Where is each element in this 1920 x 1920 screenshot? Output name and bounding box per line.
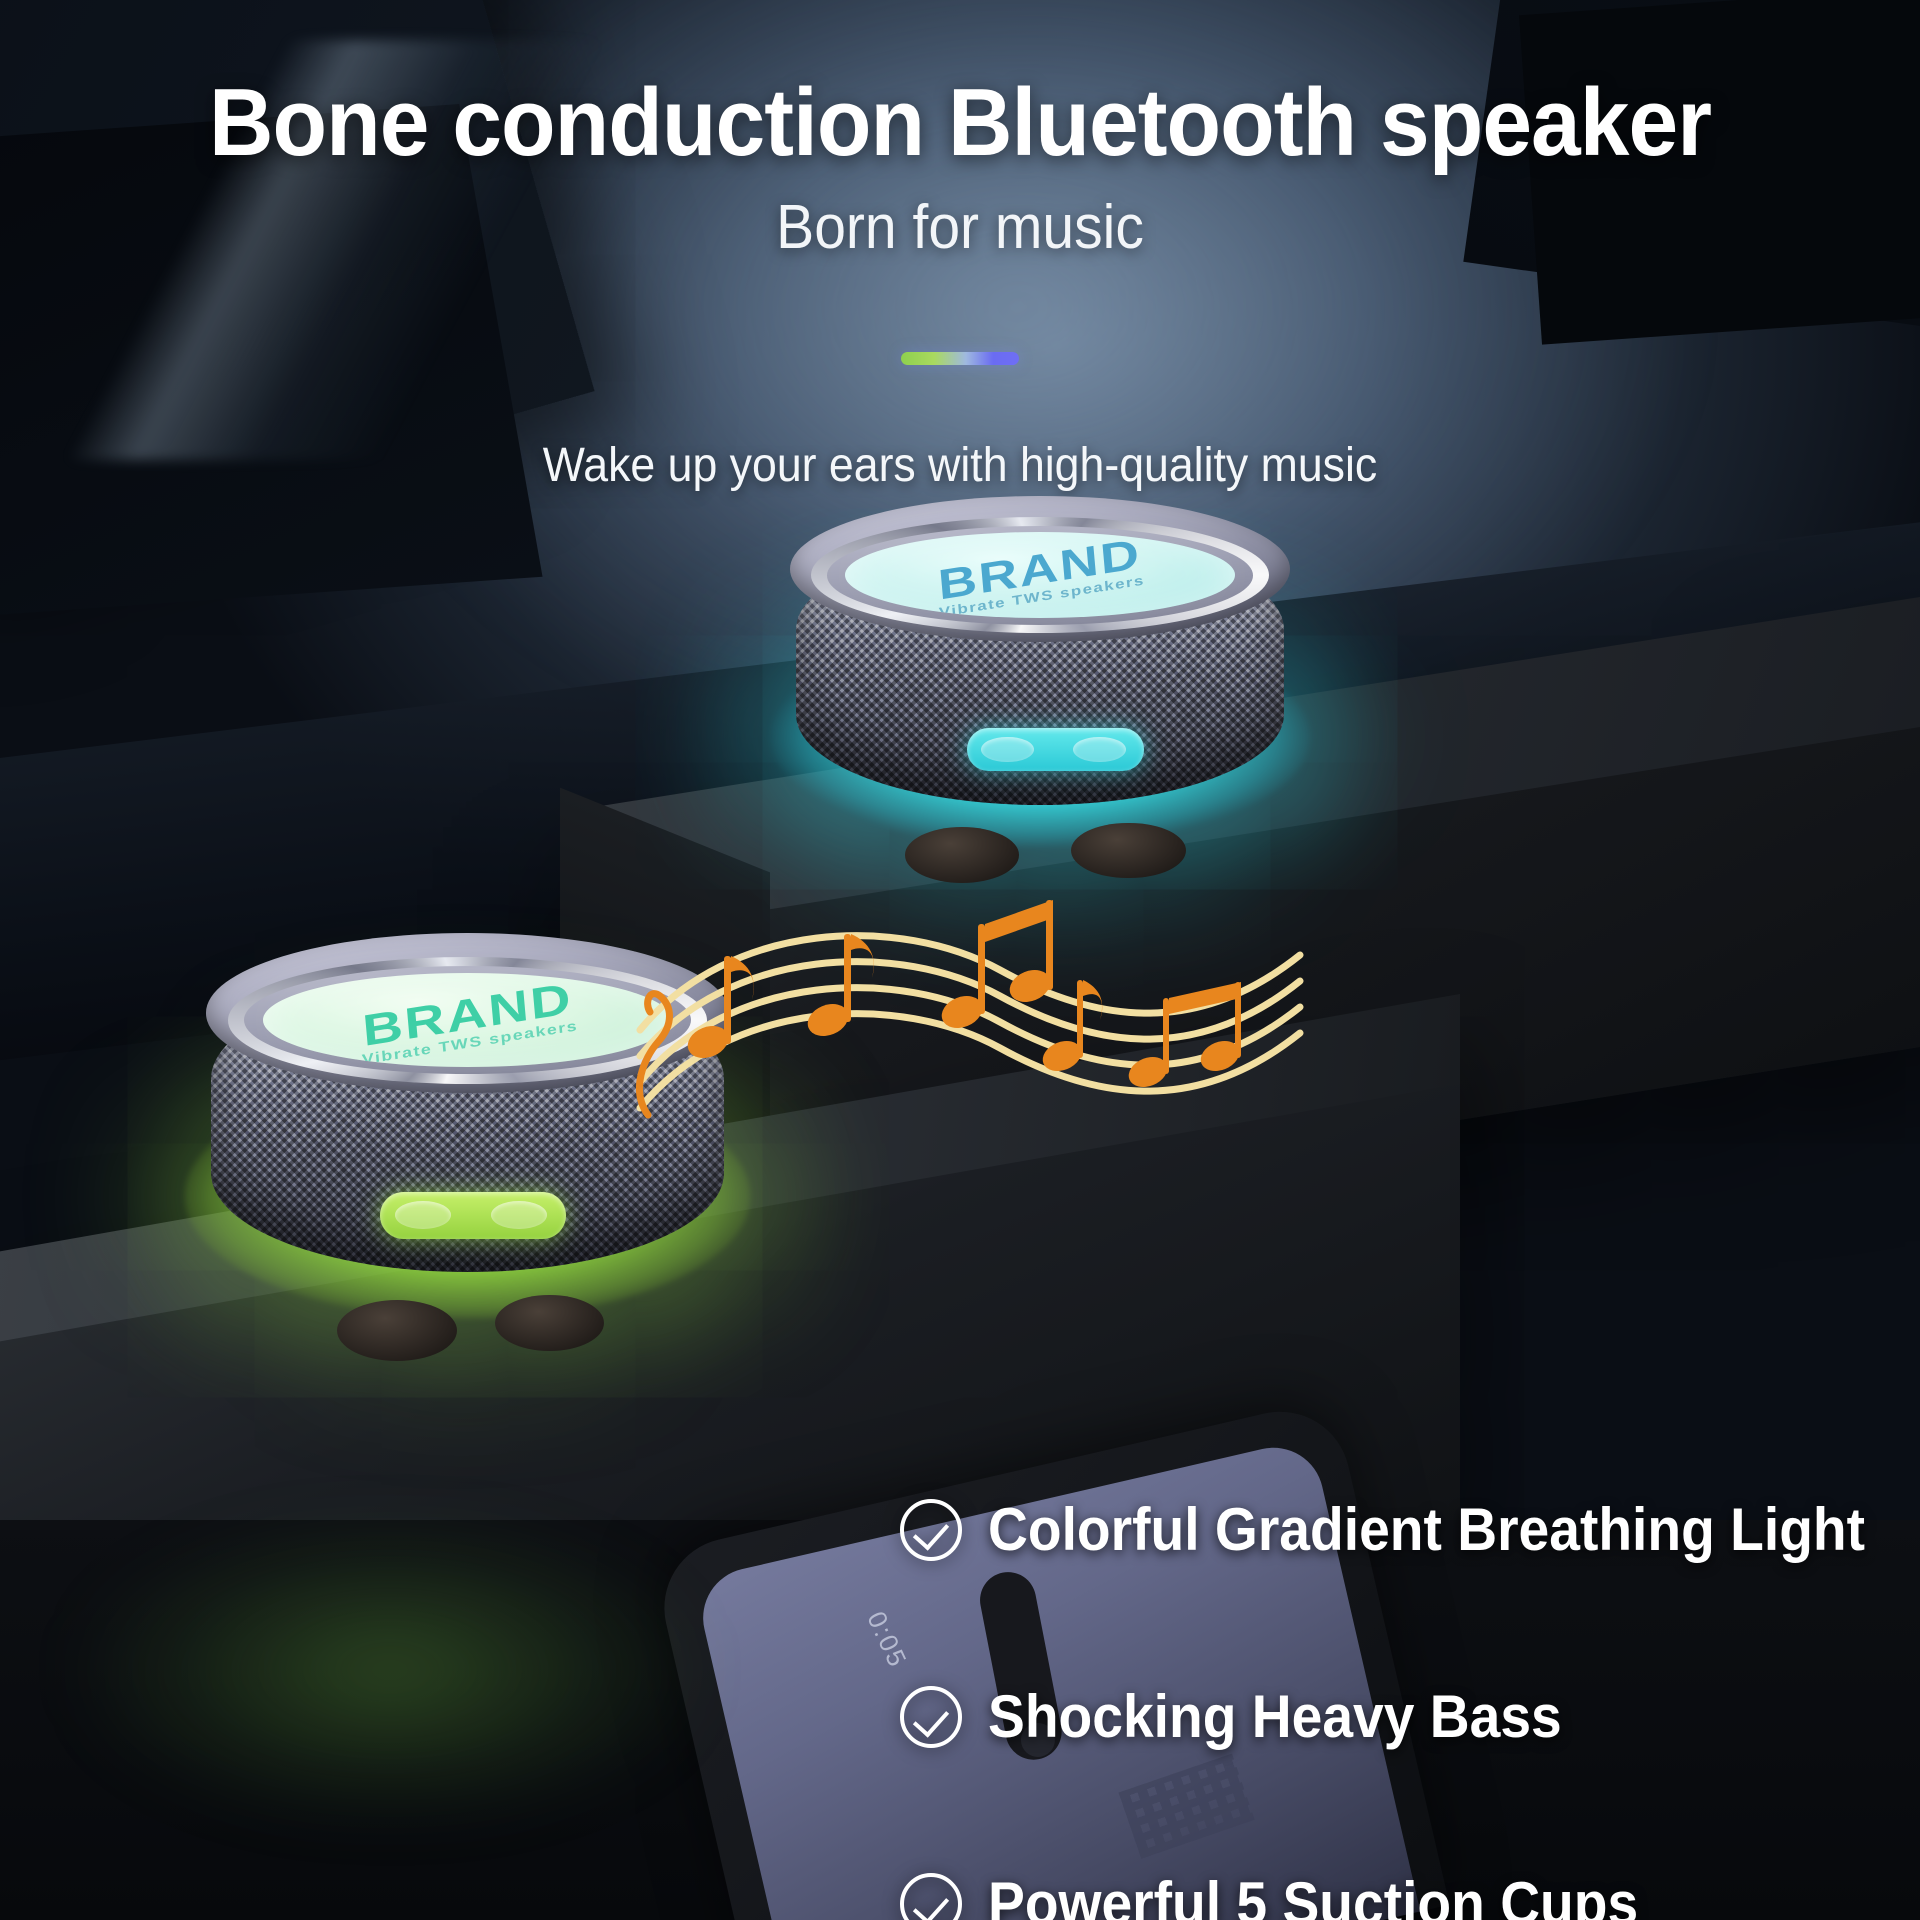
button-right-green[interactable]: [491, 1201, 547, 1229]
control-pad-cyan: [967, 728, 1144, 771]
page-subtitle: Born for music: [77, 192, 1843, 263]
control-pad-green: [380, 1192, 565, 1239]
note-group-orange: [683, 900, 1244, 1092]
product-speaker-cyan: BRAND Vibrate TWS speakers: [780, 470, 1300, 900]
button-right-cyan[interactable]: [1073, 737, 1126, 763]
check-circle-icon: [900, 1686, 962, 1748]
feature-label: Shocking Heavy Bass: [988, 1682, 1562, 1751]
feature-label: Powerful 5 Suction Cups: [988, 1869, 1638, 1920]
product-promo-banner: 0:05 Bone conduction Bluetooth speaker B…: [0, 0, 1920, 1920]
button-left-green[interactable]: [395, 1201, 451, 1229]
feature-item: Powerful 5 Suction Cups: [900, 1869, 1900, 1920]
green-floor-glow: [80, 1520, 700, 1820]
feature-label: Colorful Gradient Breathing Light: [988, 1495, 1865, 1564]
button-left-cyan[interactable]: [981, 737, 1034, 763]
check-circle-icon: [900, 1499, 962, 1561]
music-notes-graphic: [600, 860, 1340, 1140]
feature-list: Colorful Gradient Breathing Light Shocki…: [900, 1495, 1900, 1920]
feature-item: Colorful Gradient Breathing Light: [900, 1495, 1900, 1564]
feature-item: Shocking Heavy Bass: [900, 1682, 1900, 1751]
brand-logo-cyan: BRAND Vibrate TWS speakers: [935, 532, 1146, 618]
brand-logo-green: BRAND Vibrate TWS speakers: [357, 973, 579, 1067]
suction-foot-green-2: [495, 1295, 604, 1351]
speaker-top-glass-cyan: BRAND Vibrate TWS speakers: [845, 532, 1235, 618]
suction-foot-green-1: [337, 1300, 457, 1361]
gradient-divider: [901, 352, 1019, 365]
page-title: Bone conduction Bluetooth speaker: [67, 68, 1853, 178]
check-circle-icon: [900, 1873, 962, 1920]
